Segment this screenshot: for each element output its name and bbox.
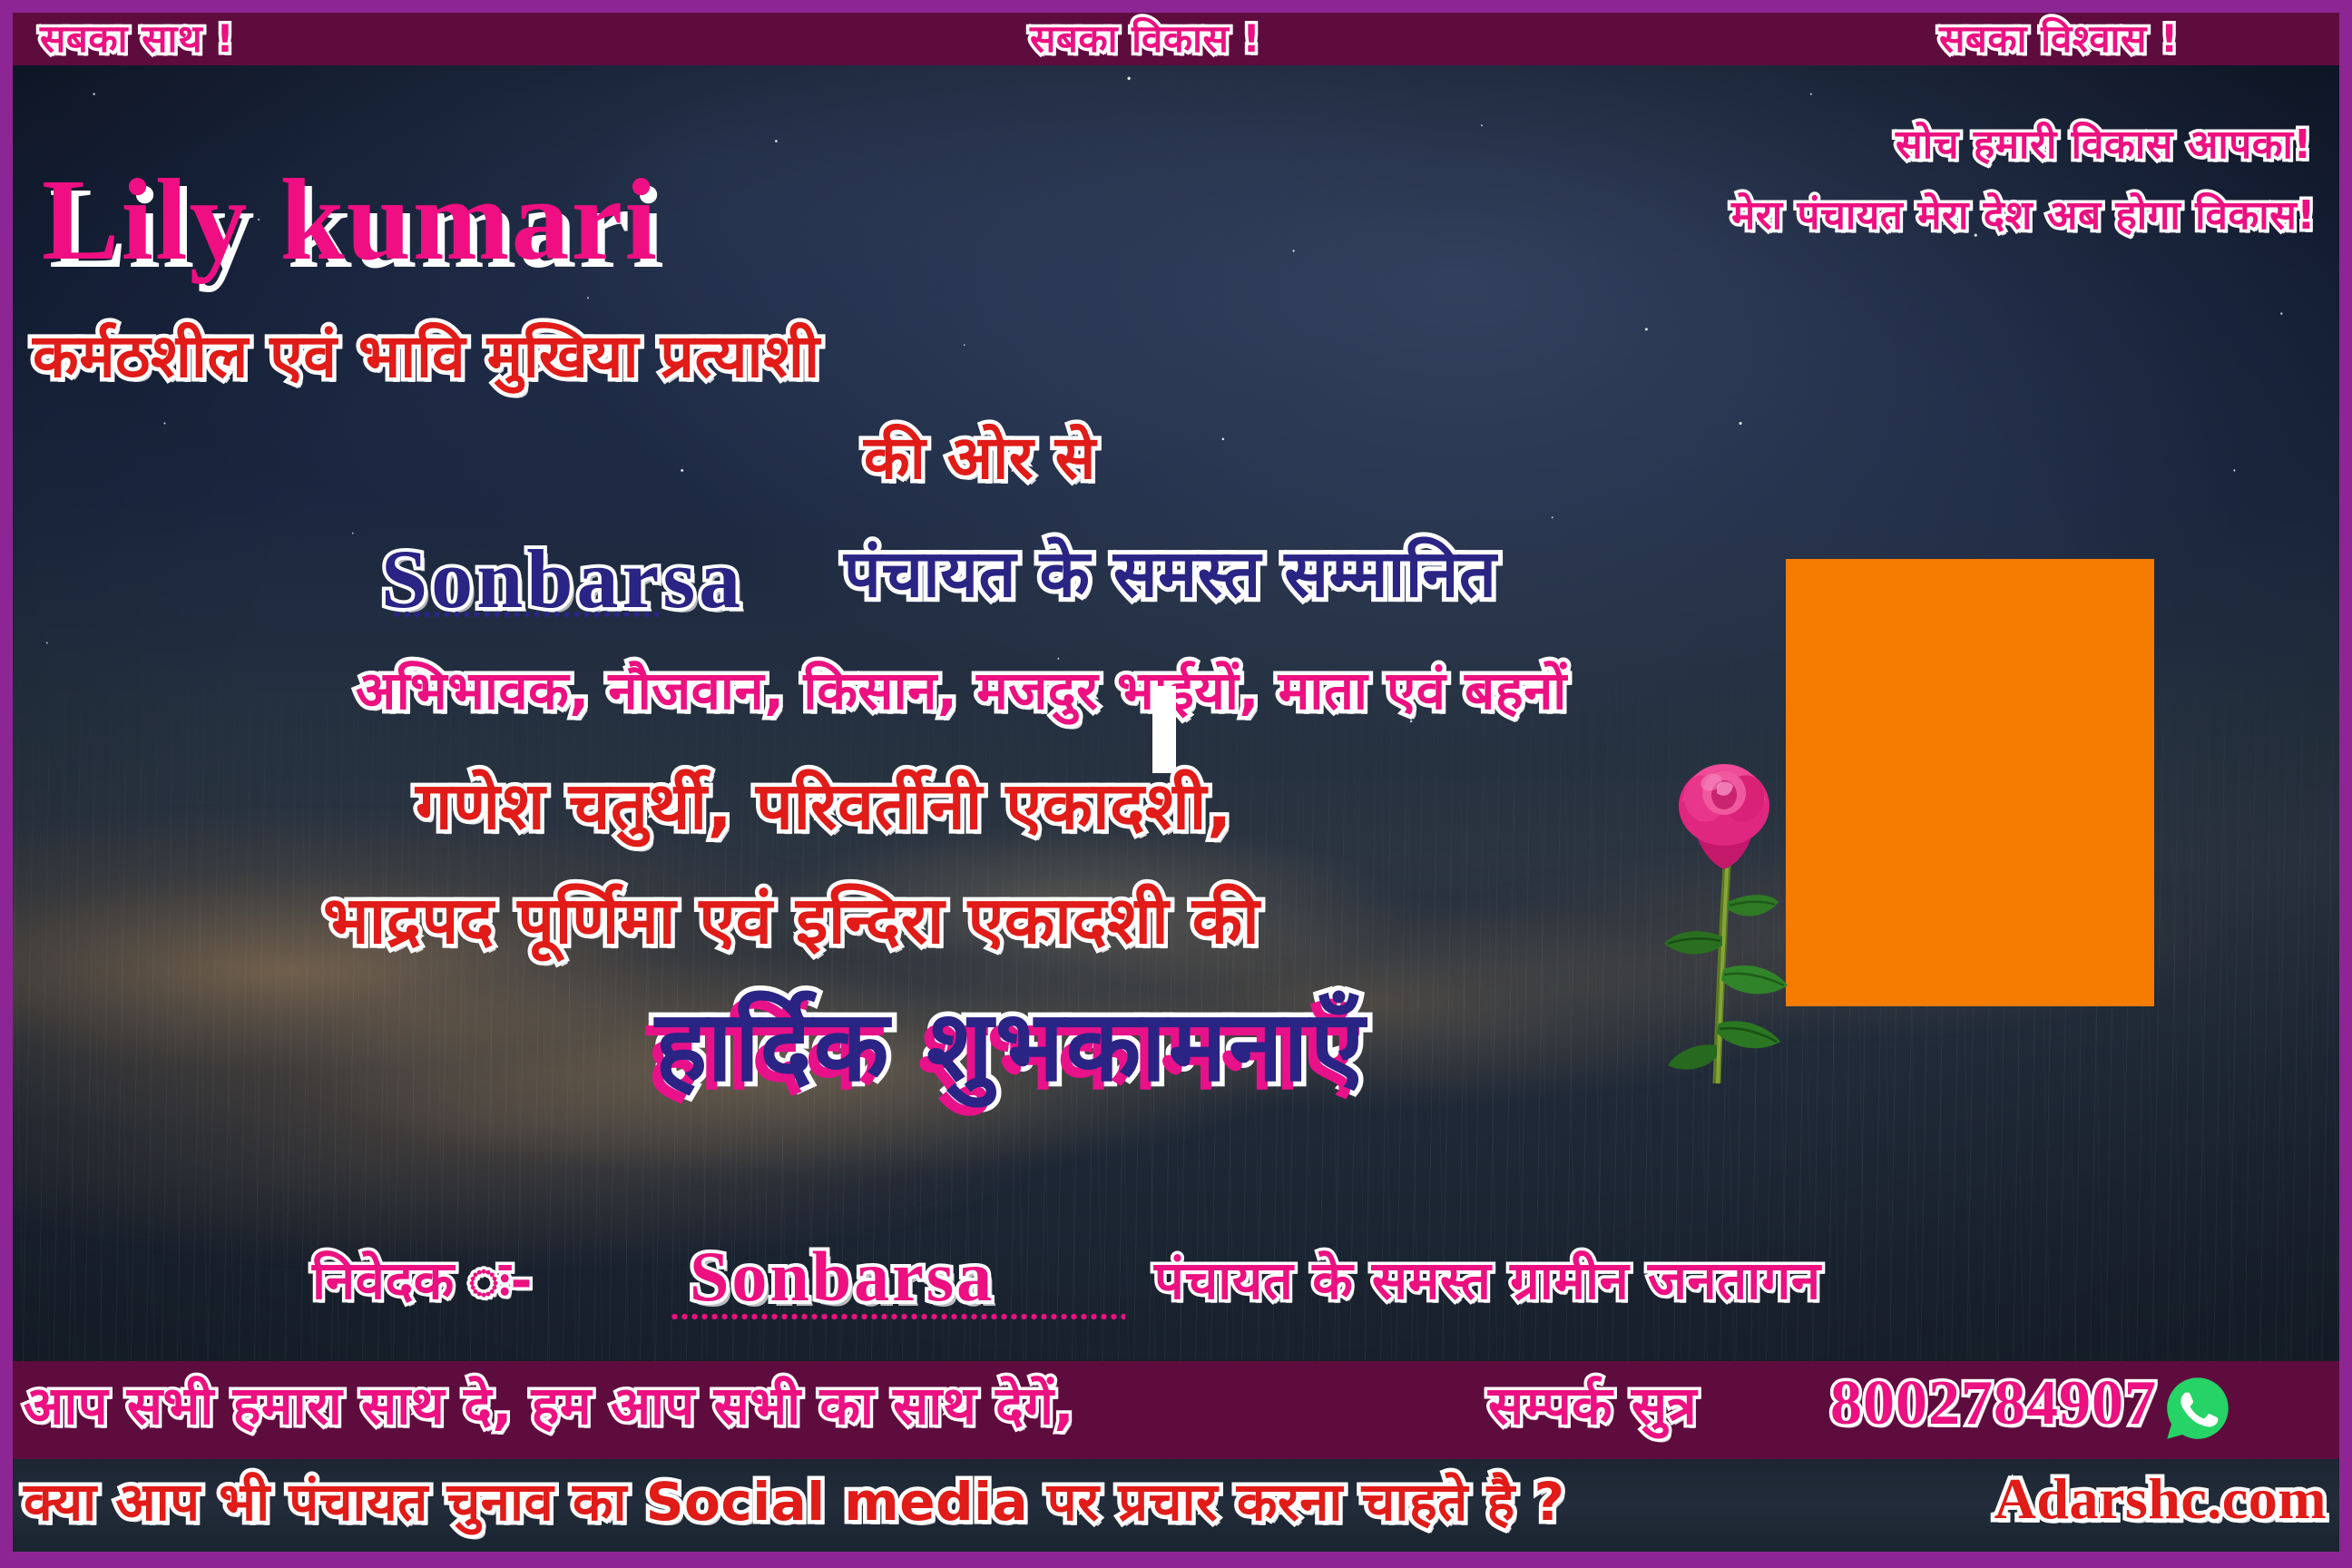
- slogan-sabka-vikas: सबका विकास !: [1030, 20, 1260, 58]
- frame-border-bottom: [0, 1552, 2352, 1568]
- candidate-name: Lily kumari: [42, 162, 659, 278]
- pink-rose-flower: [1633, 746, 1815, 1091]
- photo-placeholder[interactable]: [1786, 559, 2154, 1006]
- panchayat-name-underline: [392, 610, 661, 619]
- panchayat-name-secondary: Sonbarsa: [690, 1241, 995, 1312]
- requester-label: निवेदक ः-: [312, 1254, 533, 1307]
- whatsapp-icon[interactable]: [2165, 1376, 2230, 1441]
- festival-line-1: गणेश चतुर्थी, परिवर्तीनी एकादशी,: [416, 773, 1232, 838]
- text-caret: [1152, 686, 1176, 773]
- greeting-text: हार्दिक शुभकामनाएँ: [655, 998, 1367, 1096]
- slogan-sabka-vishwas: सबका विश्वास !: [1939, 20, 2179, 58]
- candidate-designation: कर्मठशील एवं भावि मुखिया प्रत्याशी: [33, 327, 820, 387]
- requester-name-underline: [670, 1312, 1125, 1321]
- poster-canvas: सबका साथ ! सबका विकास ! सबका विश्वास ! स…: [0, 0, 2352, 1568]
- corner-slogan-line-1: सोच हमारी विकास आपका!: [1896, 125, 2312, 165]
- panchayat-name-primary: Sonbarsa: [381, 537, 744, 621]
- audience-line: अभिभावक, नौजवान, किसान, मजदुर भाईयों, मा…: [356, 664, 1567, 717]
- requester-suffix: पंचायत के समस्त ग्रामीन जनतागन: [1154, 1254, 1821, 1307]
- corner-slogan-line-2: मेरा पंचायत मेरा देश अब होगा विकास!: [1731, 196, 2316, 236]
- festival-line-2: भाद्रपद पूर्णिमा एवं इन्दिरा एकादशी की: [323, 887, 1259, 953]
- frame-border-left: [0, 0, 13, 1568]
- contact-phone-number[interactable]: 8002784907: [1830, 1372, 2157, 1436]
- support-line: आप सभी हमारा साथ दे, हम आप सभी का साथ दे…: [24, 1379, 1074, 1432]
- website-link[interactable]: Adarshc.com: [1994, 1470, 2327, 1528]
- frame-border-right: [2339, 0, 2352, 1568]
- slogan-sabka-saath: सबका साथ !: [40, 20, 234, 58]
- candidate-from-label: की ओर से: [864, 428, 1096, 488]
- frame-border-top: [0, 0, 2352, 13]
- panchayat-line-label: पंचायत के समस्त सम्मानित: [844, 541, 1496, 606]
- promo-line: क्या आप भी पंचायत चुनाव का Social media …: [24, 1475, 1565, 1528]
- contact-label: सम्पर्क सुत्र: [1488, 1379, 1697, 1432]
